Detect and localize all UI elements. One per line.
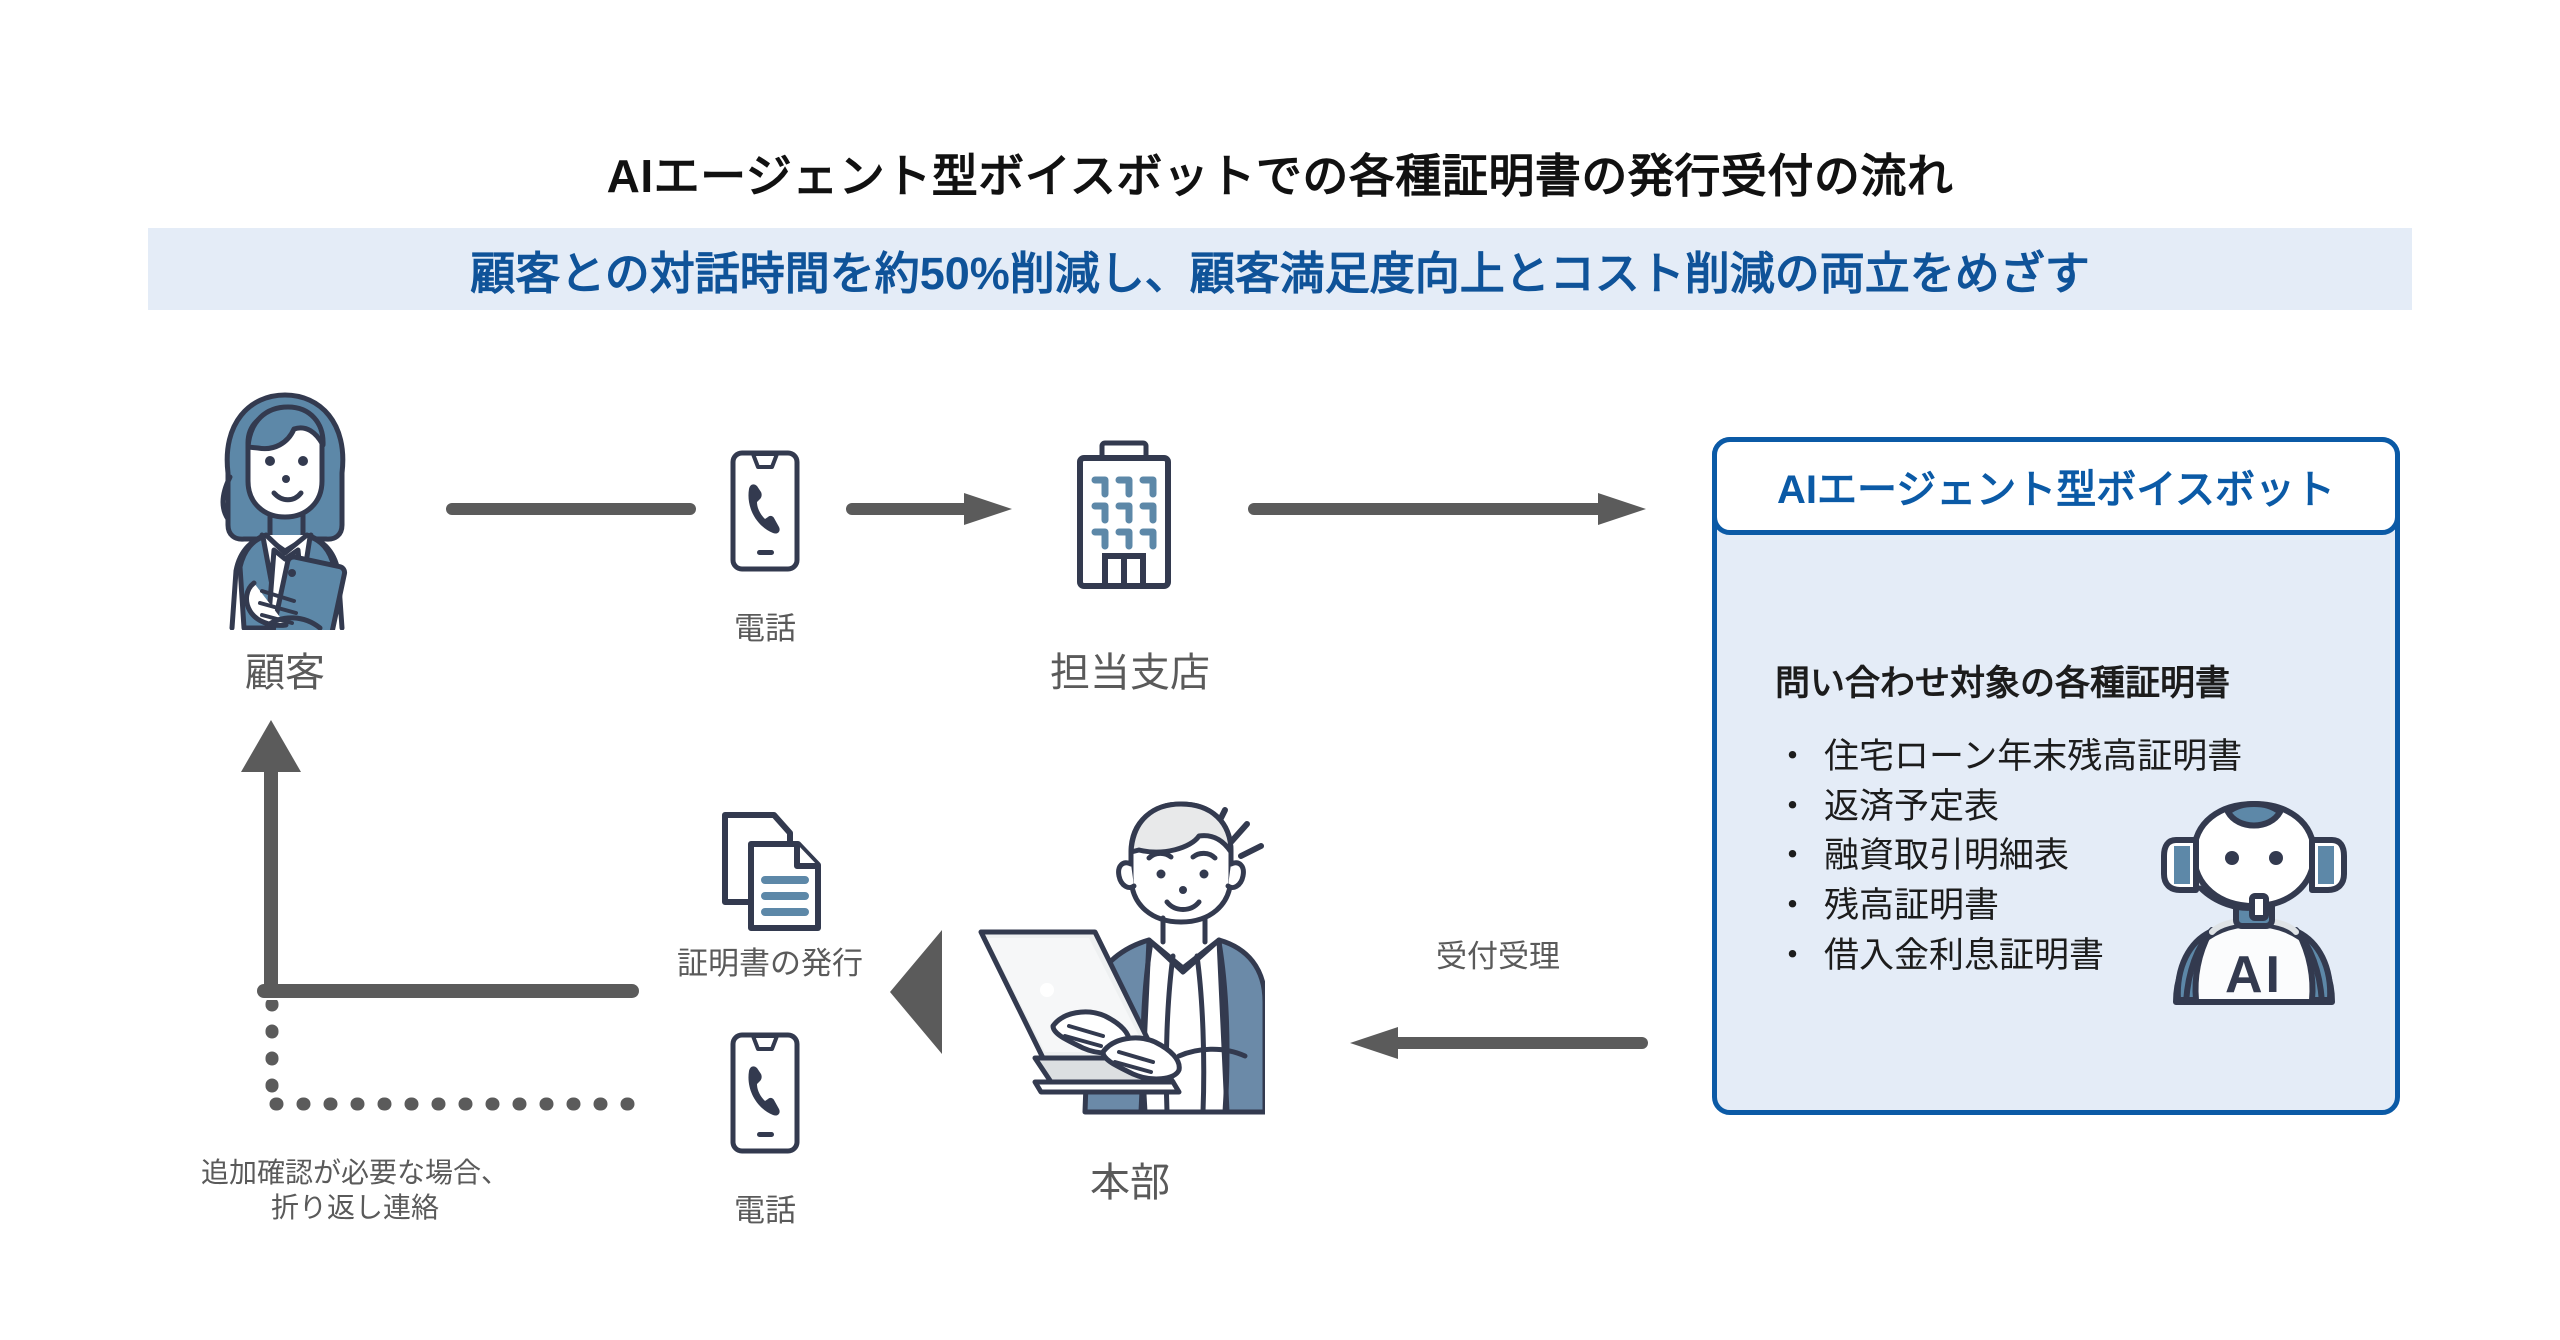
accept-label: 受付受理: [1348, 938, 1648, 977]
list-item-label: 返済予定表: [1824, 782, 1999, 832]
bullet-marker: ・: [1775, 831, 1810, 881]
bullet-marker: ・: [1775, 931, 1810, 981]
callback-label: 追加確認が必要な場合、 折り返し連絡: [180, 1155, 530, 1225]
phone-top-label: 電話: [655, 610, 875, 649]
list-item: ・ 住宅ローン年末残高証明書: [1775, 732, 2375, 782]
bullet-marker: ・: [1775, 881, 1810, 931]
branch-label: 担当支店: [1010, 648, 1250, 698]
diagram-canvas: AIエージェント型ボイスボットでの各種証明書の発行受付の流れ 顧客との対話時間を…: [0, 0, 2560, 1340]
list-item-label: 残高証明書: [1824, 881, 1999, 931]
customer-label: 顧客: [120, 648, 450, 698]
list-item-label: 借入金利息証明書: [1824, 931, 2104, 981]
phone-bottom-label: 電話: [655, 1192, 875, 1231]
arrow-ai-to-hq: [1348, 1026, 1648, 1060]
page-title: AIエージェント型ボイスボットでの各種証明書の発行受付の流れ: [0, 140, 2560, 206]
list-item-label: 融資取引明細表: [1824, 831, 2069, 881]
certificate-document-icon: [718, 810, 828, 935]
subtitle-text: 顧客との対話時間を約50%削減し、顧客満足度向上とコスト削減の両立をめざす: [148, 228, 2412, 310]
bullet-marker: ・: [1775, 782, 1810, 832]
subtitle-band: 顧客との対話時間を約50%削減し、顧客満足度向上とコスト削減の両立をめざす: [148, 228, 2412, 310]
ai-robot-icon: AI: [2154, 796, 2354, 1008]
bullet-marker: ・: [1775, 732, 1810, 782]
ai-voicebot-panel-header: AIエージェント型ボイスボット: [1712, 437, 2400, 535]
connector-line-customer-to-phone: [446, 498, 696, 520]
arrow-phone-to-branch: [846, 492, 1014, 526]
headquarters-illustration: [935, 790, 1265, 1120]
robot-chest-label: AI: [2225, 946, 2283, 1004]
ai-voicebot-panel-title: AIエージェント型ボイスボット: [1777, 457, 2335, 515]
dotted-callback-path: [236, 1000, 656, 1120]
arrow-branch-to-ai: [1248, 492, 1648, 526]
phone-icon-bottom: [730, 1032, 800, 1154]
phone-icon-top: [730, 450, 800, 572]
customer-illustration: [170, 385, 400, 630]
certificate-list-heading: 問い合わせ対象の各種証明書: [1775, 655, 2375, 706]
list-item-label: 住宅ローン年末残高証明書: [1824, 732, 2242, 782]
headquarters-label: 本部: [1010, 1158, 1250, 1208]
branch-building-icon: [1069, 440, 1179, 590]
